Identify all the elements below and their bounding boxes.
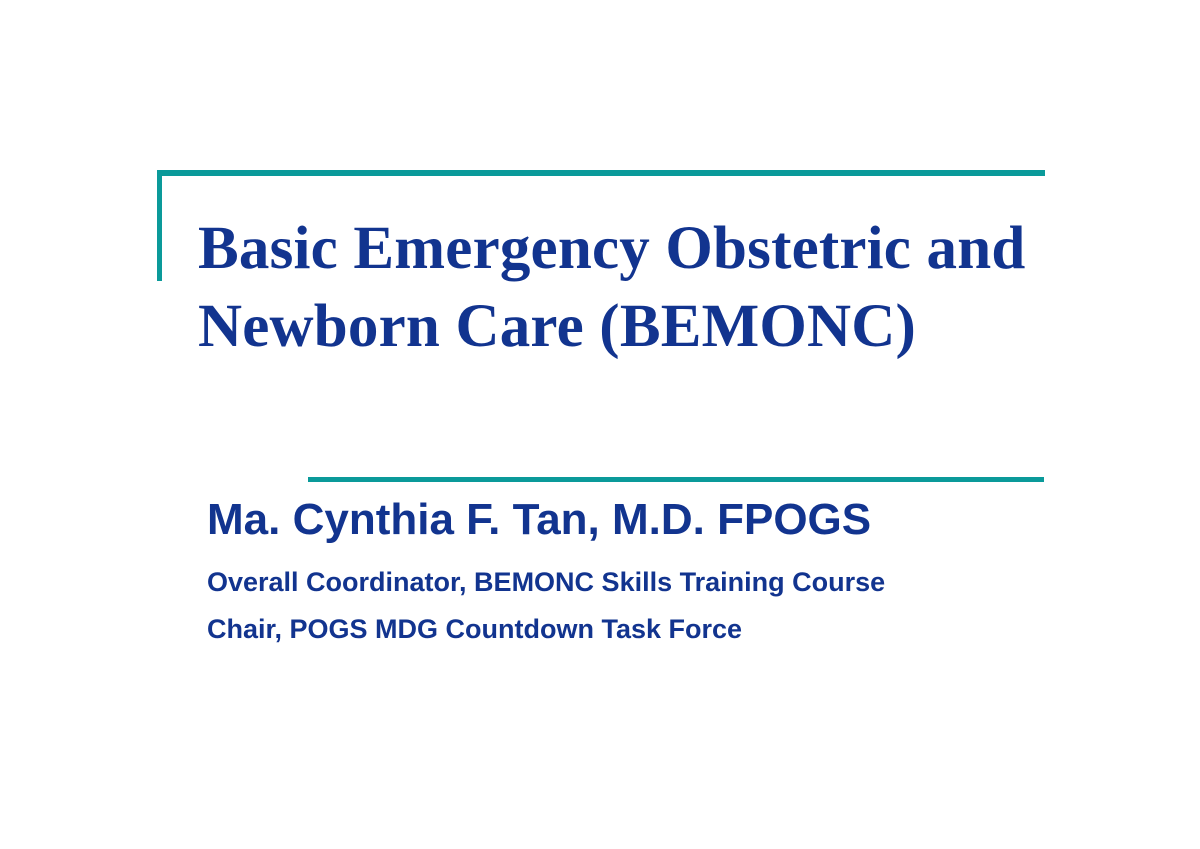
author-role-primary: Overall Coordinator, BEMONC Skills Train… bbox=[207, 559, 1167, 606]
mid-horizontal-rule bbox=[308, 477, 1044, 482]
title-line-1: Basic Emergency Obstetric and bbox=[198, 210, 1158, 288]
slide-title: Basic Emergency Obstetric and Newborn Ca… bbox=[198, 210, 1158, 366]
author-name: Ma. Cynthia F. Tan, M.D. FPOGS bbox=[207, 492, 1167, 548]
title-slide: Basic Emergency Obstetric and Newborn Ca… bbox=[0, 0, 1200, 849]
left-vertical-rule bbox=[157, 170, 162, 281]
author-credits: Ma. Cynthia F. Tan, M.D. FPOGS Overall C… bbox=[207, 492, 1167, 653]
author-role-secondary: Chair, POGS MDG Countdown Task Force bbox=[207, 606, 1167, 653]
title-line-2: Newborn Care (BEMONC) bbox=[198, 288, 1158, 366]
top-horizontal-rule bbox=[157, 170, 1045, 176]
